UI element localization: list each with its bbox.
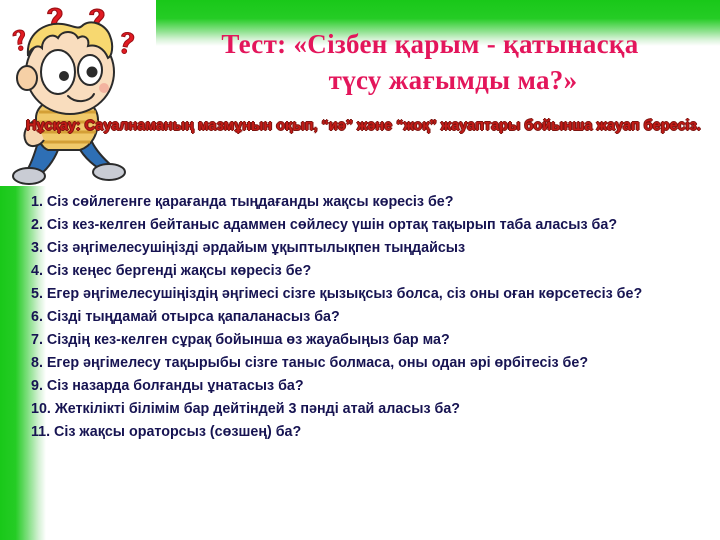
presentation-slide: Тест: «Сізбен қарым - қатынасқа түсу жағ… <box>0 0 720 540</box>
list-item: 2. Сіз кез-келген бейтаныс адаммен сөйле… <box>31 214 711 237</box>
thinking-boy-clipart <box>0 0 156 186</box>
list-item: 4. Сіз кеңес бергенді жақсы көресіз бе? <box>31 260 711 283</box>
list-item: 8. Егер әңгімелесу тақырыбы сізге таныс … <box>31 352 711 375</box>
list-item: 5. Егер әңгімелесушіңіздің әңгімесі сізг… <box>31 283 711 306</box>
instruction-text: Нұсқау: Сауалнаманың мазмұнын оқып, “иә”… <box>26 115 716 137</box>
list-item: 3. Сіз әңгімелесушіңізді әрдайым ұқыптыл… <box>31 237 711 260</box>
slide-title: Тест: «Сізбен қарым - қатынасқа түсу жағ… <box>150 26 710 98</box>
list-item: 11. Сіз жақсы ораторсыз (сөзшең) ба? <box>31 421 711 444</box>
list-item: 10. Жеткілікті білімім бар дейтіндей 3 п… <box>31 398 711 421</box>
list-item: 9. Сіз назарда болғанды ұнатасыз ба? <box>31 375 711 398</box>
title-line-1: Тест: «Сізбен қарым - қатынасқа <box>221 29 638 59</box>
list-item: 6. Сізді тыңдамай отырса қапаланасыз ба? <box>31 306 711 329</box>
list-item: 7. Сіздің кез-келген сұрақ бойынша өз жа… <box>31 329 711 352</box>
list-item: 1. Сіз сөйлегенге қарағанда тыңдағанды ж… <box>31 191 711 214</box>
title-line-2: түсу жағымды ма?» <box>150 62 710 98</box>
question-list: 1. Сіз сөйлегенге қарағанда тыңдағанды ж… <box>31 191 711 444</box>
